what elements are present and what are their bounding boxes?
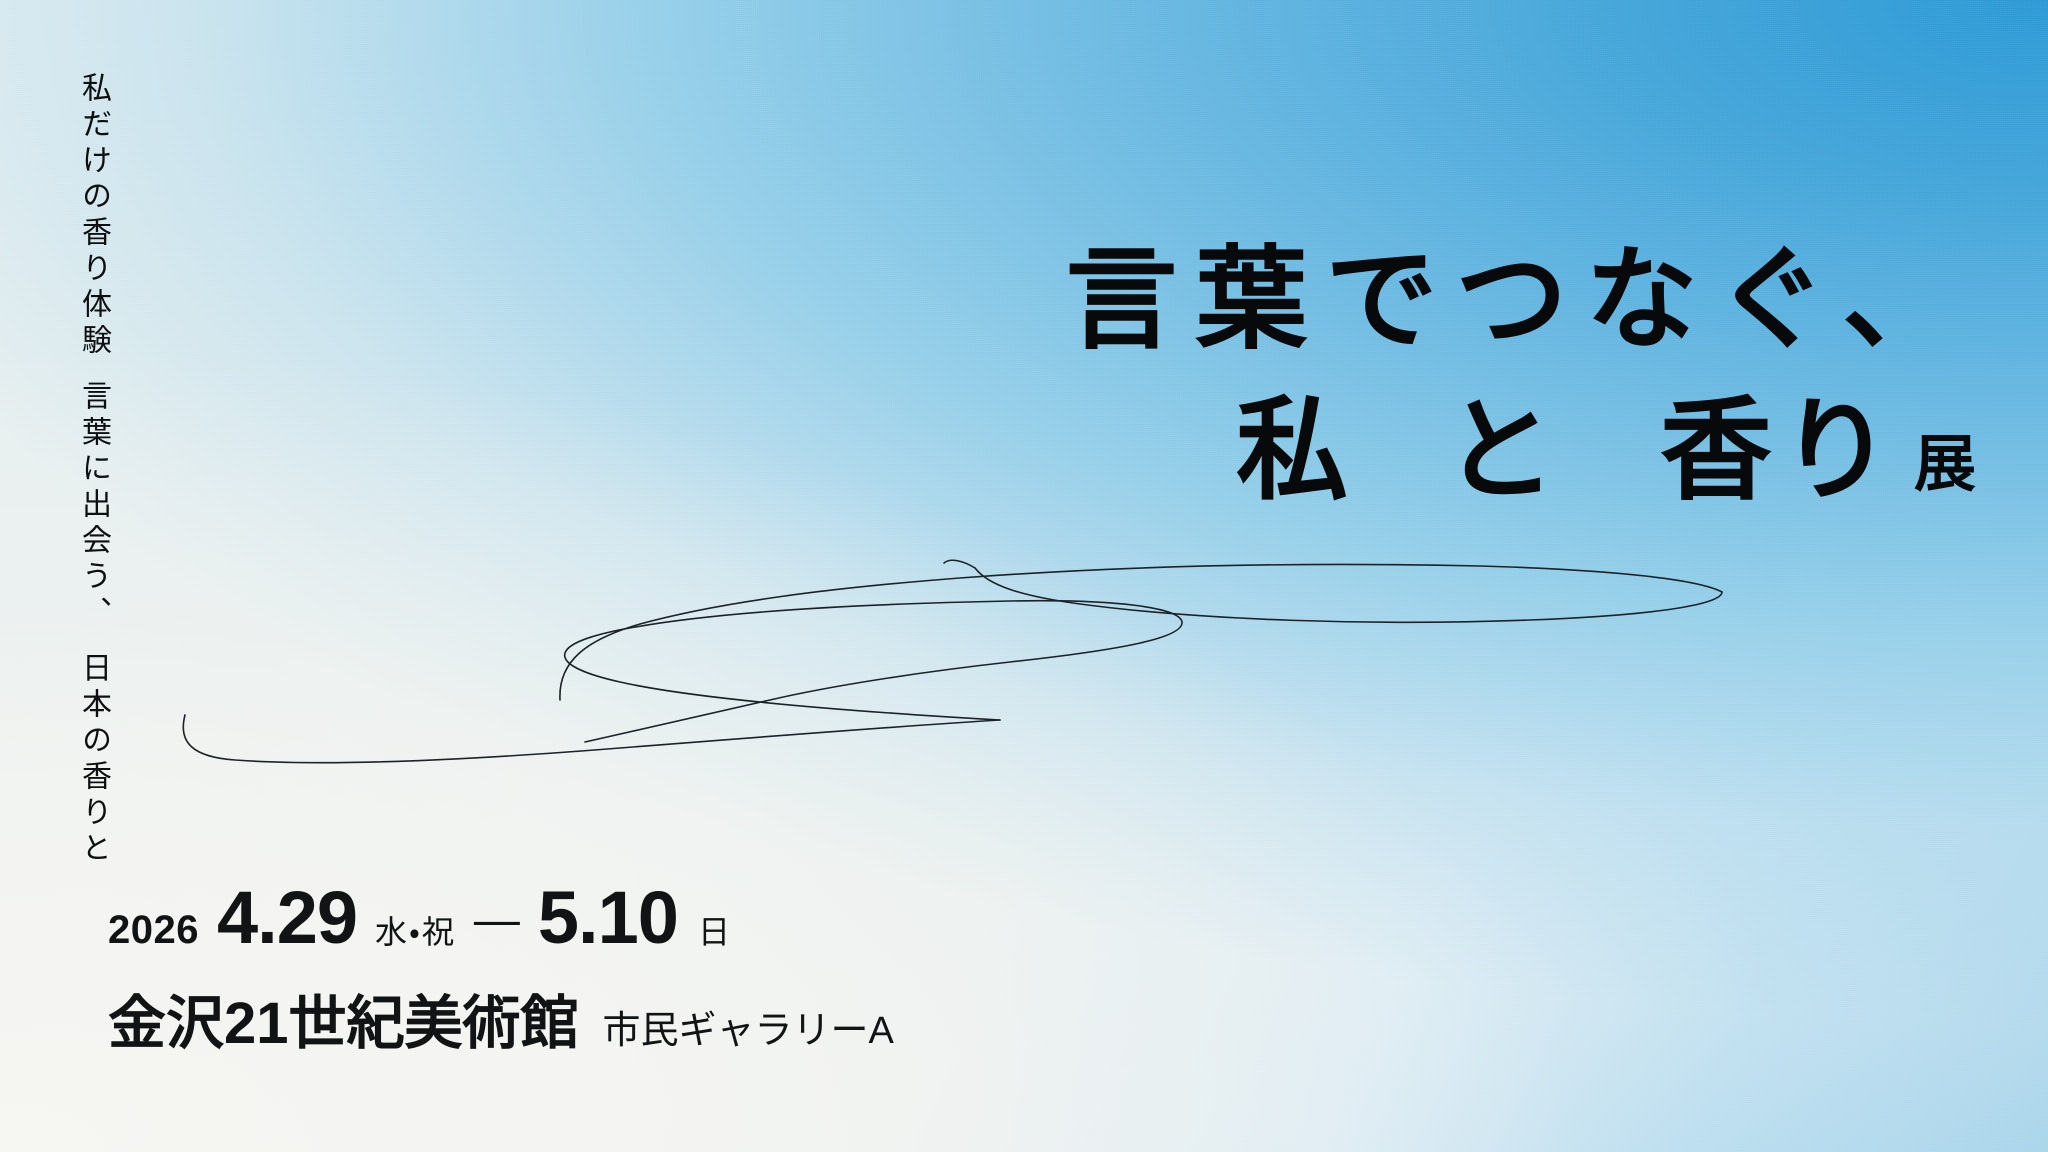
date-end-dayofweek: 日 xyxy=(698,907,731,953)
date-end: 5.10 xyxy=(538,875,678,960)
title-line-2-part-2: と xyxy=(1444,388,1556,513)
tagline-column-2: 言葉に出会う、 xyxy=(78,380,108,632)
date-range-separator: — xyxy=(474,892,520,946)
exhibition-title: 言葉でつなぐ、 私と香り展 xyxy=(1065,232,1976,519)
title-line-1: 言葉でつなぐ、 xyxy=(1065,232,1976,369)
exhibition-poster: 日本の香りと 言葉に出会う、 私だけの香り体験 言葉でつなぐ、 私と香り展 20… xyxy=(0,0,2048,1152)
date-year: 2026 xyxy=(108,908,199,953)
exhibition-info: 2026 4.29 水・祝 — 5.10 日 金沢21世紀美術館 市民ギャラリー… xyxy=(108,875,894,1060)
title-line-2-part-1: 私 xyxy=(1236,388,1348,513)
tagline-column-1: 日本の香りと xyxy=(78,652,108,868)
venue-line: 金沢21世紀美術館 市民ギャラリーA xyxy=(108,976,894,1060)
venue-name: 金沢21世紀美術館 xyxy=(108,976,579,1060)
date-start-dayofweek: 水・祝 xyxy=(375,907,456,953)
title-suffix-ten: 展 xyxy=(1914,430,1976,499)
venue-hall: 市民ギャラリーA xyxy=(603,999,894,1054)
tagline-column-3: 私だけの香り体験 xyxy=(78,72,108,360)
date-range: 2026 4.29 水・祝 — 5.10 日 xyxy=(108,875,894,960)
title-line-2: 私と香り展 xyxy=(1065,383,1976,520)
title-line-2-part-3: 香り xyxy=(1660,388,1900,513)
date-start: 4.29 xyxy=(217,875,357,960)
tagline: 日本の香りと 言葉に出会う、 私だけの香り体験 xyxy=(78,72,108,868)
